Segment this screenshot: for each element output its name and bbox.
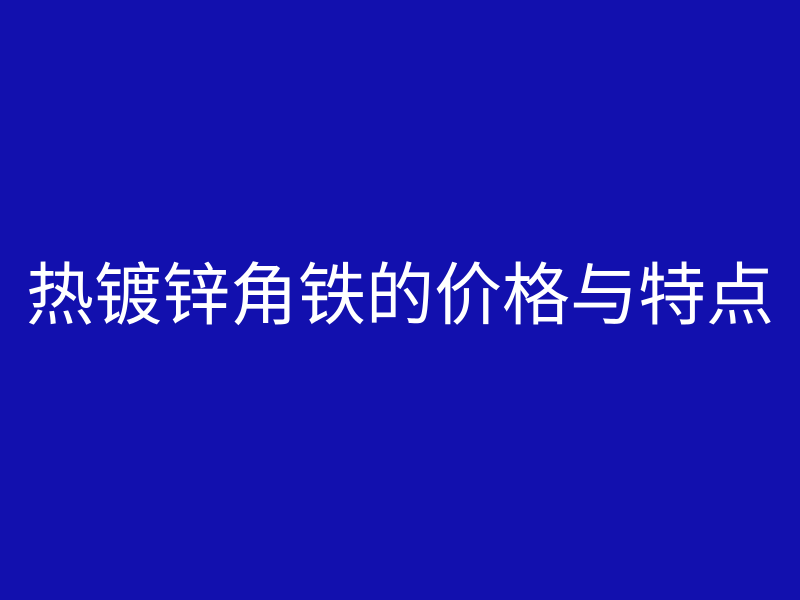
slide-canvas: 热镀锌角铁的价格与特点: [0, 0, 800, 600]
title-band: 热镀锌角铁的价格与特点: [0, 0, 800, 594]
slide-title: 热镀锌角铁的价格与特点: [26, 263, 774, 331]
